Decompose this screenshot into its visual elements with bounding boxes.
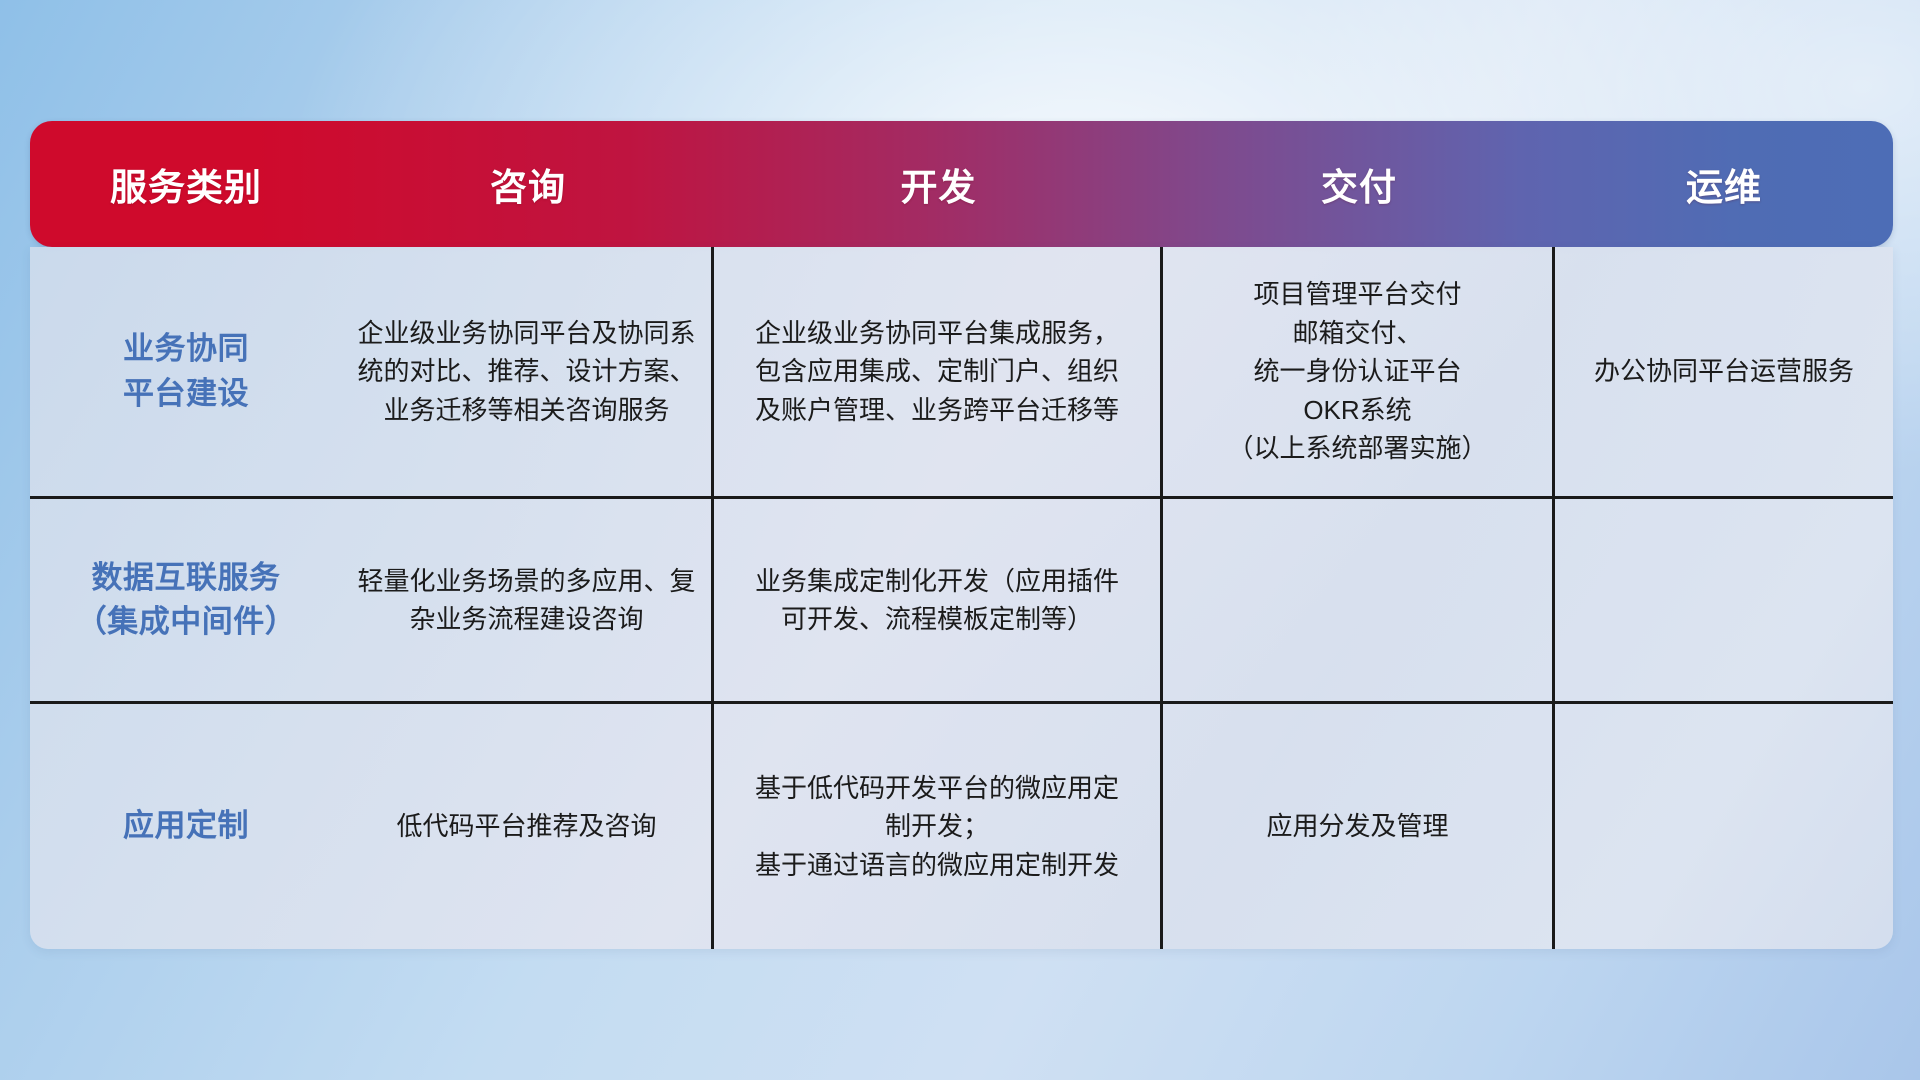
service-matrix-table: 服务类别 咨询 开发 交付 运维 业务协同 平台建设 企业级业务协同平台及协同系… bbox=[30, 121, 1893, 949]
cell-text: 基于低代码开发平台的微应用定 制开发； 基于通过语言的微应用定制开发 bbox=[755, 769, 1119, 884]
cell-text: 办公协同平台运营服务 bbox=[1594, 352, 1854, 390]
cell-consulting: 轻量化业务场景的多应用、复 杂业务流程建设咨询 bbox=[342, 499, 714, 701]
row-category-label: 应用定制 bbox=[123, 804, 249, 848]
cell-operations: 办公协同平台运营服务 bbox=[1555, 247, 1893, 496]
row-category-cell: 数据互联服务 （集成中间件） bbox=[30, 499, 342, 701]
cell-text: 轻量化业务场景的多应用、复 杂业务流程建设咨询 bbox=[357, 562, 695, 639]
cell-text: 项目管理平台交付 邮箱交付、 统一身份认证平台 OKR系统 （以上系统部署实施） bbox=[1227, 275, 1487, 467]
cell-development: 企业级业务协同平台集成服务， 包含应用集成、定制门户、组织 及账户管理、业务跨平… bbox=[714, 247, 1163, 496]
row-category-label: 数据互联服务 （集成中间件） bbox=[76, 556, 297, 644]
cell-development: 基于低代码开发平台的微应用定 制开发； 基于通过语言的微应用定制开发 bbox=[714, 704, 1163, 949]
cell-delivery: 项目管理平台交付 邮箱交付、 统一身份认证平台 OKR系统 （以上系统部署实施） bbox=[1163, 247, 1555, 496]
cell-text: 低代码平台推荐及咨询 bbox=[396, 807, 656, 845]
row-category-cell: 应用定制 bbox=[30, 704, 342, 949]
cell-operations bbox=[1555, 499, 1893, 701]
slide-canvas: 服务类别 咨询 开发 交付 运维 业务协同 平台建设 企业级业务协同平台及协同系… bbox=[0, 0, 1920, 1080]
row-category-label: 业务协同 平台建设 bbox=[123, 327, 249, 415]
table-row: 应用定制 低代码平台推荐及咨询 基于低代码开发平台的微应用定 制开发； 基于通过… bbox=[30, 704, 1893, 949]
cell-delivery: 应用分发及管理 bbox=[1163, 704, 1555, 949]
cell-consulting: 企业级业务协同平台及协同系 统的对比、推荐、设计方案、 业务迁移等相关咨询服务 bbox=[342, 247, 714, 496]
cell-text: 应用分发及管理 bbox=[1266, 807, 1448, 845]
column-header-delivery[interactable]: 交付 bbox=[1163, 157, 1555, 211]
cell-text: 企业级业务协同平台及协同系 统的对比、推荐、设计方案、 业务迁移等相关咨询服务 bbox=[357, 314, 695, 429]
cell-delivery bbox=[1163, 499, 1555, 701]
cell-text: 业务集成定制化开发（应用插件 可开发、流程模板定制等） bbox=[755, 562, 1119, 639]
cell-text: 企业级业务协同平台集成服务， 包含应用集成、定制门户、组织 及账户管理、业务跨平… bbox=[755, 314, 1119, 429]
table-header-row: 服务类别 咨询 开发 交付 运维 bbox=[30, 121, 1893, 247]
cell-operations bbox=[1555, 704, 1893, 949]
row-category-cell: 业务协同 平台建设 bbox=[30, 247, 342, 496]
cell-consulting: 低代码平台推荐及咨询 bbox=[342, 704, 714, 949]
column-header-category[interactable]: 服务类别 bbox=[30, 157, 342, 211]
cell-development: 业务集成定制化开发（应用插件 可开发、流程模板定制等） bbox=[714, 499, 1163, 701]
column-header-development[interactable]: 开发 bbox=[714, 157, 1163, 211]
column-header-operations[interactable]: 运维 bbox=[1555, 157, 1893, 211]
table-row: 数据互联服务 （集成中间件） 轻量化业务场景的多应用、复 杂业务流程建设咨询 业… bbox=[30, 499, 1893, 704]
column-header-consulting[interactable]: 咨询 bbox=[342, 157, 714, 211]
table-row: 业务协同 平台建设 企业级业务协同平台及协同系 统的对比、推荐、设计方案、 业务… bbox=[30, 247, 1893, 499]
table-body: 业务协同 平台建设 企业级业务协同平台及协同系 统的对比、推荐、设计方案、 业务… bbox=[30, 247, 1893, 949]
